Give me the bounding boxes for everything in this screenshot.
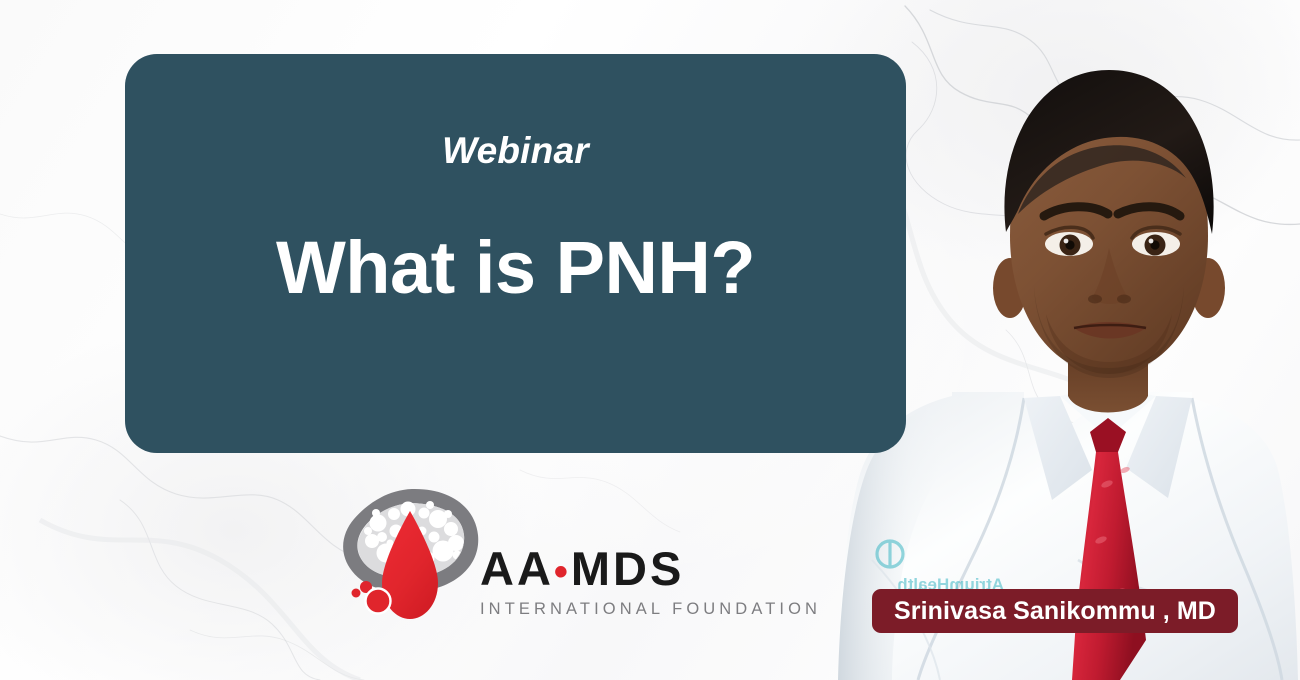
page-title: What is PNH? bbox=[276, 231, 755, 305]
title-panel: Webinar What is PNH? bbox=[125, 54, 906, 453]
eyebrow-label: Webinar bbox=[442, 132, 589, 169]
aamds-logo: AA•MDS INTERNATIONAL FOUNDATION bbox=[330, 483, 730, 628]
logo-tagline: INTERNATIONAL FOUNDATION bbox=[480, 601, 821, 618]
speaker-name-badge: Srinivasa Sanikommu , MD bbox=[872, 589, 1238, 633]
wordmark-mds: MDS bbox=[571, 542, 684, 595]
wordmark-aa: AA bbox=[480, 542, 554, 595]
speaker-name-label: Srinivasa Sanikommu , MD bbox=[894, 597, 1216, 626]
blood-drop-cells-icon bbox=[330, 483, 490, 625]
logo-text-block: AA•MDS INTERNATIONAL FOUNDATION bbox=[480, 483, 821, 618]
wordmark-dot-separator: • bbox=[554, 550, 571, 594]
logo-wordmark: AA•MDS bbox=[480, 545, 821, 592]
webinar-title-slide: AtriumHealth bbox=[0, 0, 1300, 680]
